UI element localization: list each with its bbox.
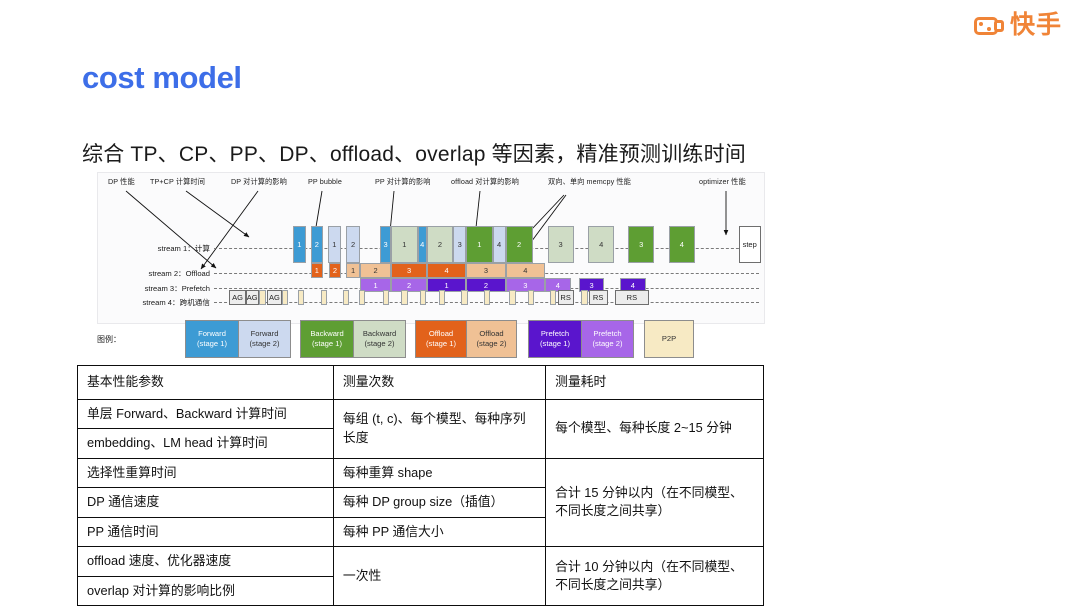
- legend-cell-title: Offload: [479, 329, 503, 339]
- stream4-block-22: RS: [615, 290, 649, 305]
- stream2-block-4: 2: [360, 263, 391, 278]
- stream4-block-15: [484, 290, 490, 305]
- stream2-block-7: 3: [466, 263, 505, 278]
- stream4-block-5: [282, 290, 288, 305]
- table-header-cell-2: 测量次数: [333, 366, 545, 400]
- stream4-block-10: [383, 290, 389, 305]
- table-body: 基本性能参数测量次数测量耗时单层 Forward、Backward 计算时间每组…: [78, 366, 764, 606]
- table-cell-param: PP 通信时间: [78, 517, 334, 547]
- stream1-block-16: 4: [669, 226, 695, 263]
- stream1-block-3: 1: [328, 226, 342, 263]
- table-header-cell-3: 测量耗时: [546, 366, 764, 400]
- table-header-cell-1: 基本性能参数: [78, 366, 334, 400]
- stream4-block-21: RS: [589, 290, 608, 305]
- table-cell-param: embedding、LM head 计算时间: [78, 429, 334, 459]
- legend-group-3: Offload(stage 1)Offload(stage 2): [415, 320, 517, 358]
- stream4-block-8: [343, 290, 349, 305]
- legend-cell-stage: (stage 1): [197, 339, 227, 349]
- stream1-block-17: step: [739, 226, 761, 263]
- stream1-block-7: 4: [418, 226, 427, 263]
- legend-cell-forward_stage1: Forward(stage 1): [186, 321, 238, 357]
- stream1-block-5: 3: [380, 226, 391, 263]
- legend-cell-title: Forward: [198, 329, 226, 339]
- brand-logo: 快手: [974, 12, 1062, 38]
- row-label-stream-2-offload: stream 2：Offload: [98, 268, 210, 279]
- table-cell-param: overlap 对计算的影响比例: [78, 576, 334, 606]
- stream2-block-6: 4: [427, 263, 466, 278]
- page-subtitle: 综合 TP、CP、PP、DP、offload、overlap 等因素，精准预测训…: [82, 138, 746, 168]
- timeline-diagram: DP 性能TP+CP 计算时间DP 对计算的影响PP bubblePP 对计算的…: [97, 172, 765, 324]
- stream4-block-18: [550, 290, 556, 305]
- legend-cell-stage: (stage 1): [426, 339, 456, 349]
- legend-cell-stage: (stage 2): [250, 339, 280, 349]
- legend-group-5: P2P: [644, 320, 694, 358]
- legend-cell-prefetch_stage1: Prefetch(stage 1): [529, 321, 581, 357]
- stream1-block-10: 1: [466, 226, 492, 263]
- stream4-block-11: [401, 290, 407, 305]
- legend-cell-stage: (stage 1): [312, 339, 342, 349]
- stream1-block-2: 2: [311, 226, 324, 263]
- row-label-stream-4-cross-node-comm: stream 4：跨机通信: [98, 297, 210, 308]
- legend-cell-stage: (stage 2): [477, 339, 507, 349]
- stream4-block-7: [321, 290, 327, 305]
- table-cell-param: DP 通信速度: [78, 488, 334, 518]
- legend-cell-stage: (stage 1): [540, 339, 570, 349]
- stream1-block-1: 1: [293, 226, 307, 263]
- legend-cell-stage: (stage 2): [365, 339, 395, 349]
- table-cell-count: 每种 PP 通信大小: [333, 517, 545, 547]
- stream2-block-2: 2: [329, 263, 340, 278]
- stream4-block-17: [528, 290, 534, 305]
- stream1-block-14: 4: [588, 226, 614, 263]
- table-header-row: 基本性能参数测量次数测量耗时: [78, 366, 764, 400]
- page-title: cost model: [82, 60, 242, 96]
- legend-cell-title: Offload: [429, 329, 453, 339]
- stream4-block-20: [581, 290, 587, 305]
- legend-cell-title: Forward: [251, 329, 279, 339]
- legend-cell-prefetch_stage2: Prefetch(stage 2): [581, 321, 633, 357]
- kuaishou-logo-icon: [974, 12, 1004, 38]
- table-cell-param: offload 速度、优化器速度: [78, 547, 334, 577]
- table-cell-count: 每种 DP group size（插值）: [333, 488, 545, 518]
- legend-group-4: Prefetch(stage 1)Prefetch(stage 2): [528, 320, 634, 358]
- stream1-block-15: 3: [628, 226, 654, 263]
- performance-parameters-table: 基本性能参数测量次数测量耗时单层 Forward、Backward 计算时间每组…: [77, 365, 764, 606]
- stream2-block-8: 4: [506, 263, 545, 278]
- table-cell-cost: 合计 15 分钟以内（在不同模型、不同长度之间共享）: [546, 458, 764, 547]
- legend-cell-title: Prefetch: [593, 329, 621, 339]
- row-label-stream-1-compute: stream 1：计算: [98, 243, 210, 254]
- table-cell-cost: 每个模型、每种长度 2~15 分钟: [546, 399, 764, 458]
- stream1-block-6: 1: [391, 226, 417, 263]
- legend-cell-title: Backward: [363, 329, 396, 339]
- stream4-block-4: AG: [267, 290, 282, 305]
- table-cell-param: 单层 Forward、Backward 计算时间: [78, 399, 334, 429]
- table-cell-count: 每种重算 shape: [333, 458, 545, 488]
- stream2-block-3: 1: [346, 263, 360, 278]
- stream2-block-1: 1: [311, 263, 324, 278]
- stream4-block-12: [420, 290, 426, 305]
- stream2-block-5: 3: [391, 263, 427, 278]
- legend-cell-backward_stage2: Backward(stage 2): [353, 321, 405, 357]
- legend-group-2: Backward(stage 1)Backward(stage 2): [300, 320, 406, 358]
- stream1-block-12: 2: [506, 226, 533, 263]
- legend-cell-stage: (stage 2): [593, 339, 623, 349]
- stream4-block-14: [461, 290, 467, 305]
- stream4-block-9: [359, 290, 365, 305]
- legend-cell-title: P2P: [662, 334, 676, 344]
- legend-cell-backward_stage1: Backward(stage 1): [301, 321, 353, 357]
- stream1-block-4: 2: [346, 226, 360, 263]
- table-row: 选择性重算时间每种重算 shape合计 15 分钟以内（在不同模型、不同长度之间…: [78, 458, 764, 488]
- legend-label: 图例：: [97, 334, 121, 345]
- stream1-block-13: 3: [548, 226, 574, 263]
- diagram-legend: 图例： Forward(stage 1)Forward(stage 2)Back…: [97, 320, 765, 362]
- table-cell-count: 每组 (t, c)、每个模型、每种序列长度: [333, 399, 545, 458]
- stream4-block-13: [439, 290, 445, 305]
- legend-cell-offload_stage1: Offload(stage 1): [416, 321, 466, 357]
- table-cell-cost: 合计 10 分钟以内（在不同模型、不同长度之间共享）: [546, 547, 764, 606]
- legend-cell-title: Prefetch: [541, 329, 569, 339]
- stream4-block-6: [298, 290, 304, 305]
- stream1-block-8: 2: [427, 226, 453, 263]
- stream1-block-9: 3: [453, 226, 466, 263]
- stream4-block-16: [509, 290, 515, 305]
- table-cell-param: 选择性重算时间: [78, 458, 334, 488]
- legend-cell-title: Backward: [310, 329, 343, 339]
- stream4-block-19: RS: [558, 290, 574, 305]
- stream4-block-1: AG: [229, 290, 245, 305]
- stream1-block-11: 4: [493, 226, 506, 263]
- legend-cell-forward_stage2: Forward(stage 2): [238, 321, 290, 357]
- row-label-stream-3-prefetch: stream 3：Prefetch: [98, 283, 210, 294]
- table-row: 单层 Forward、Backward 计算时间每组 (t, c)、每个模型、每…: [78, 399, 764, 429]
- legend-group-1: Forward(stage 1)Forward(stage 2): [185, 320, 291, 358]
- table-cell-count: 一次性: [333, 547, 545, 606]
- stream4-block-2: AG: [246, 290, 259, 305]
- table-row: offload 速度、优化器速度一次性合计 10 分钟以内（在不同模型、不同长度…: [78, 547, 764, 577]
- stream4-block-3: [259, 290, 265, 305]
- legend-cell-offload_stage2: Offload(stage 2): [466, 321, 516, 357]
- legend-cell-p2p: P2P: [645, 321, 693, 357]
- brand-name: 快手: [1010, 13, 1062, 38]
